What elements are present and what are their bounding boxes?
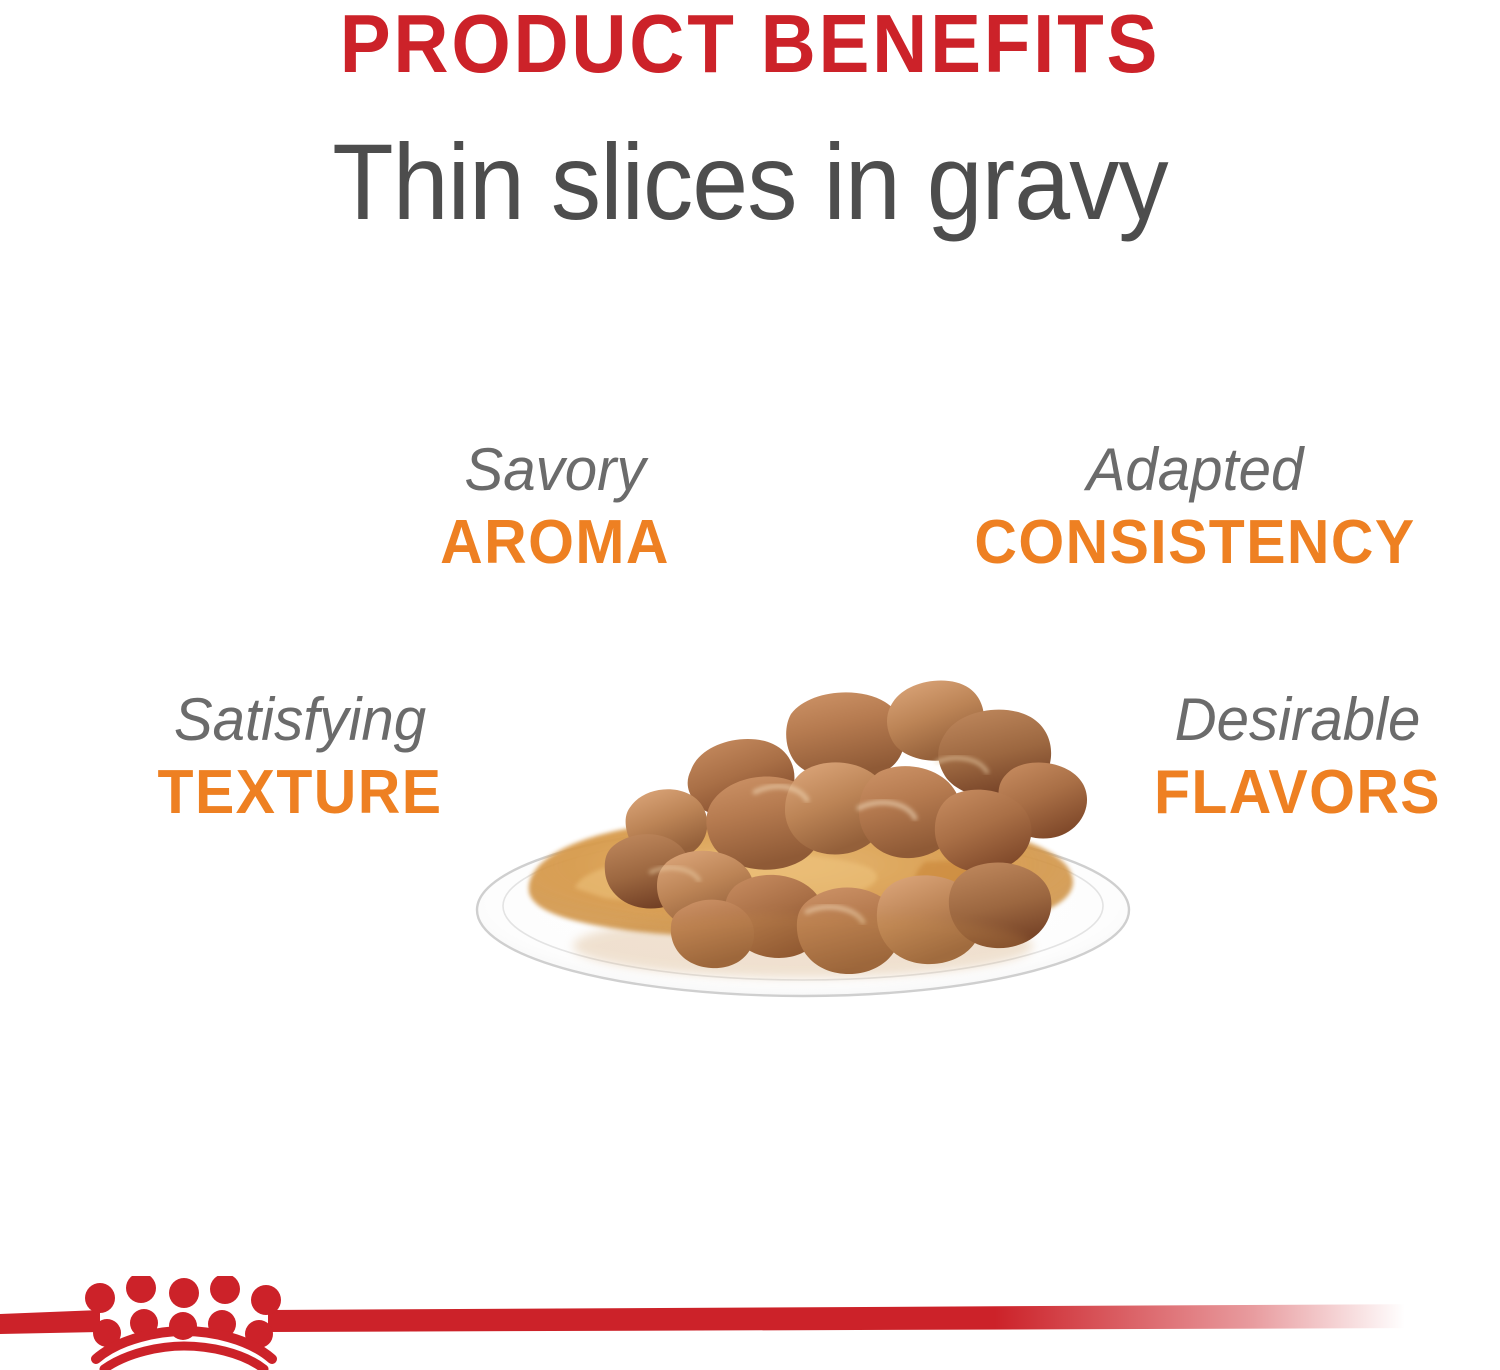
page-subtitle: Thin slices in gravy <box>53 128 1448 236</box>
pile-shadow <box>573 914 1033 978</box>
brand-footer-graphic <box>0 1276 1500 1370</box>
product-benefits-page: PRODUCT BENEFITS Thin slices in gravy Sa… <box>0 0 1500 1370</box>
benefit-aroma-headline: AROMA <box>318 512 793 574</box>
footer-rule-right <box>268 1304 1440 1332</box>
benefit-consistency-qualifier: Adapted <box>914 440 1477 500</box>
product-food-image <box>455 610 1175 1010</box>
benefit-consistency: Adapted CONSISTENCY <box>905 440 1485 574</box>
benefit-consistency-headline: CONSISTENCY <box>920 512 1471 574</box>
benefit-aroma-qualifier: Savory <box>313 440 798 500</box>
food-illustration <box>455 610 1175 1010</box>
brand-footer <box>0 1276 1500 1370</box>
footer-rule-left <box>0 1310 100 1334</box>
benefit-aroma: Savory AROMA <box>305 440 805 574</box>
royal-canin-crown-icon <box>85 1276 281 1369</box>
page-title: PRODUCT BENEFITS <box>60 2 1440 85</box>
